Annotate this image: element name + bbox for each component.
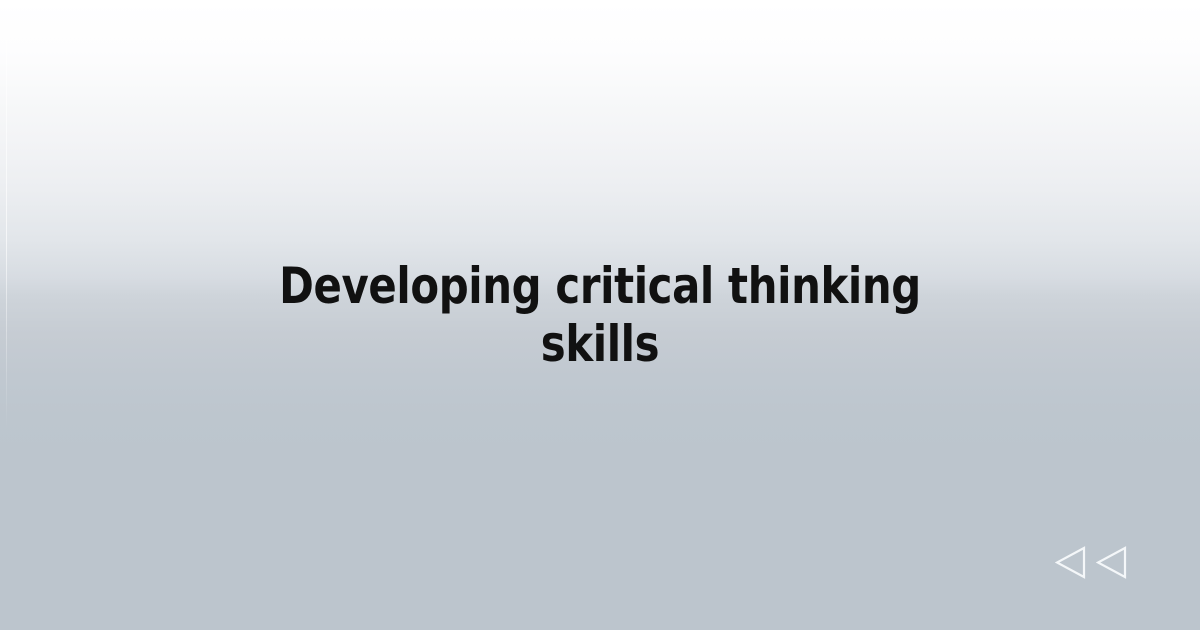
- navigation-controls[interactable]: [1055, 546, 1127, 579]
- page-title: Developing critical thinking skills: [275, 257, 926, 373]
- rewind-second-triangle-icon[interactable]: [1096, 546, 1127, 579]
- rewind-first-triangle-icon[interactable]: [1055, 546, 1086, 579]
- title-block: Developing critical thinking skills: [0, 0, 1200, 630]
- slide-canvas: Developing critical thinking skills: [0, 0, 1200, 630]
